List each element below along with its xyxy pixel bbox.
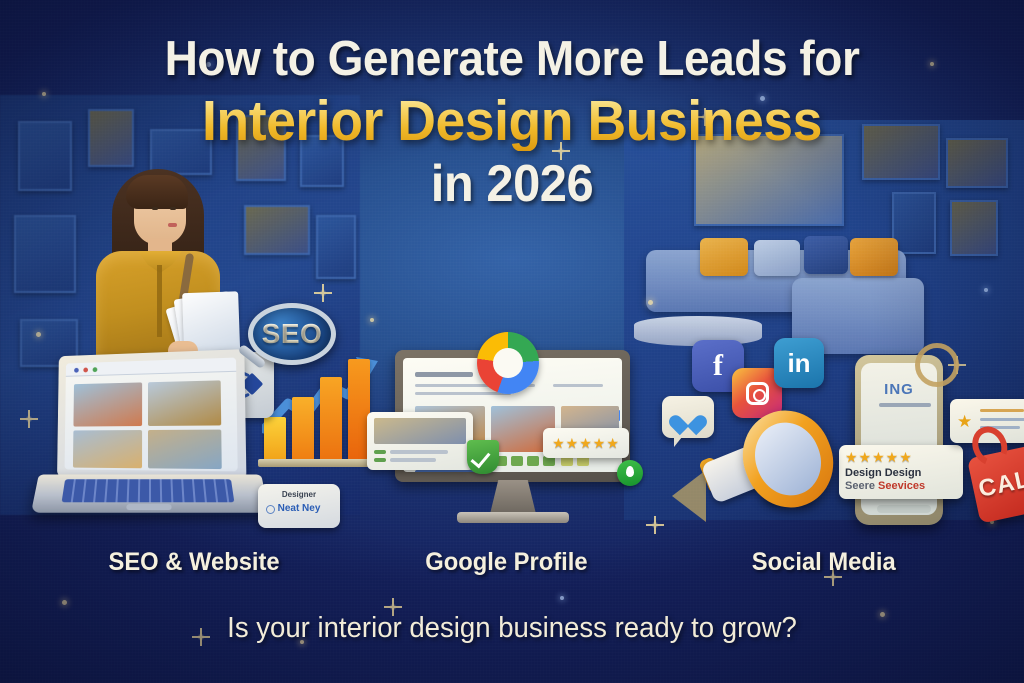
verified-check-icon [467,440,499,474]
linkedin-icon[interactable]: in [774,338,824,388]
tagline: Is your interior design business ready t… [26,612,999,645]
rating-stars-card: ★★★★★ [543,428,629,458]
seo-badge-label: SEO [262,318,323,350]
listing-preview-card [367,412,473,470]
google-rating-stars: ★★★★★ [552,436,620,450]
map-pin-icon [617,460,643,486]
search-chip-line-1: Designer [258,490,340,499]
desktop-monitor-google-profile: ★★★★★ [395,350,630,530]
search-near-me-chip: Designer Neat Ney [258,484,340,528]
headline-line-2: Interior Design Business [31,91,994,151]
poster-canvas: How to Generate More Leads for Interior … [0,0,1024,683]
headline-block: How to Generate More Leads for Interior … [0,34,1024,212]
linkedin-glyph: in [787,348,810,379]
caption-seo-website: SEO & Website [109,548,280,577]
caption-row: SEO & Website Google Profile Social Medi… [0,548,1024,588]
laptop-website-mockup [35,352,265,527]
caption-social-media: Social Media [752,548,896,577]
caption-google-profile: Google Profile [425,548,587,577]
seo-magnifier-badge-icon: SEO [248,303,336,365]
google-logo-icon [477,332,539,394]
facebook-glyph: f [713,349,723,383]
megaphone-icon [700,410,850,520]
headline-line-3: in 2026 [31,157,994,212]
headline-line-1: How to Generate More Leads for [31,34,994,86]
search-chip-line-2: Neat Ney [258,503,340,514]
growth-bar-chart [258,345,378,475]
